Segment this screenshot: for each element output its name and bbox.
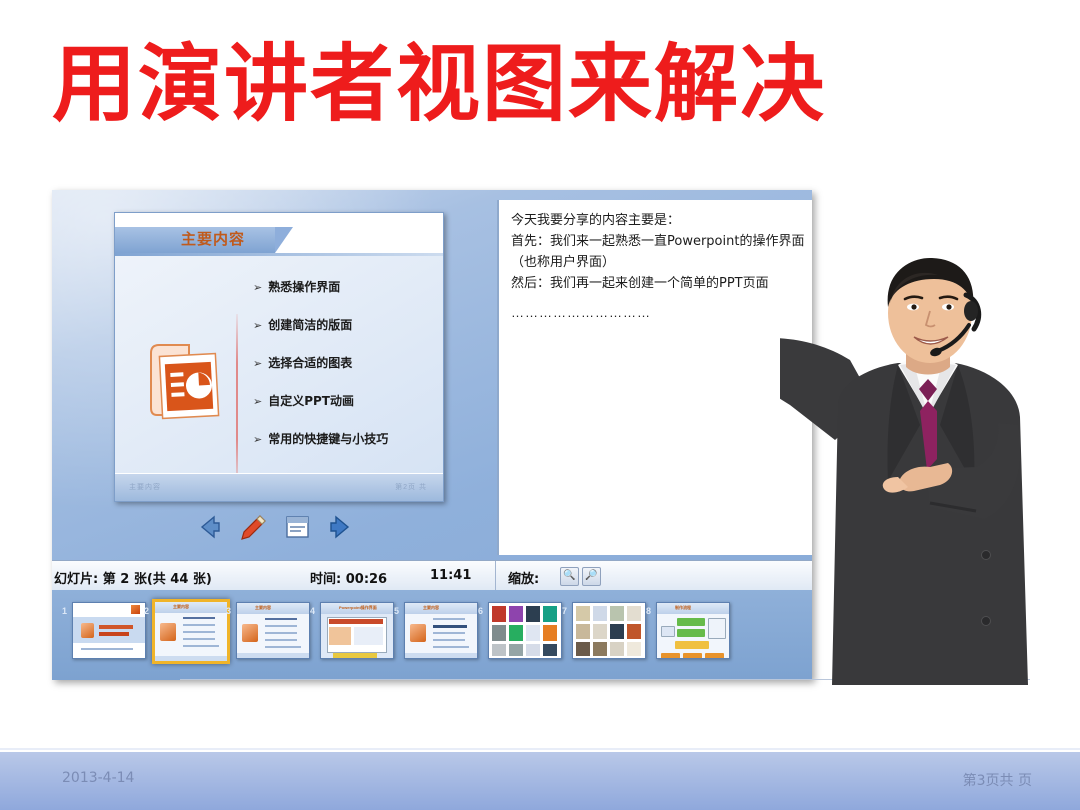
preview-footer: 主要内容 第2页 共 <box>115 473 443 501</box>
thumb3-l5 <box>265 646 301 648</box>
thumb5-l3 <box>433 632 465 634</box>
thumb4-ribbon <box>329 619 383 624</box>
thumb2-ppt-icon <box>160 623 176 641</box>
slide-navigation-controls <box>192 512 372 546</box>
zoom-out-icon[interactable]: 🔎 <box>582 567 601 586</box>
thumb3-l1 <box>265 618 297 620</box>
thumb5-head: 主要内容 <box>405 603 477 614</box>
thumb3-body <box>237 614 309 658</box>
thumb-number-4: 4 <box>310 606 315 616</box>
page-title: 用演讲者视图来解决 <box>52 36 952 132</box>
notes-line-3: （也称用户界面） <box>511 252 812 273</box>
footer-page-number: 第3页共 页 <box>963 770 1032 790</box>
thumb5-l2 <box>433 625 467 628</box>
thumb8-head: 制作流程 <box>657 603 729 614</box>
thumb4-body <box>321 614 393 658</box>
bullet-chevron-icon: ➢ <box>253 357 262 370</box>
thumb2-l3 <box>183 631 215 633</box>
next-slide-arrow-icon[interactable] <box>324 512 358 542</box>
thumb8-flow <box>657 614 729 658</box>
thumbnail-slide-6[interactable] <box>488 602 562 659</box>
notes-dotted-line: ………………………… <box>511 305 651 320</box>
preview-vertical-rule <box>236 314 238 489</box>
slide-preview-pane[interactable]: 主要内容 ➢熟悉操作界面 ➢创建简洁的版面 ➢选择合适的图表 ➢自定义 <box>114 212 444 502</box>
clock-time: 11:41 <box>430 568 471 583</box>
thumb4-highlight <box>333 653 377 658</box>
slide-menu-icon[interactable] <box>280 512 314 542</box>
thumb1-title-line <box>99 625 133 629</box>
notes-line-4: 然后：我们再一起来创建一个简单的PPT页面 <box>511 273 812 294</box>
thumb2-l5 <box>183 645 219 647</box>
preview-bullet-3: ➢选择合适的图表 <box>253 354 352 371</box>
thumb3-l2 <box>265 625 297 627</box>
thumb3-l4 <box>265 639 297 641</box>
presenter-status-bar: 幻灯片: 第 2 张(共 44 张) 时间: 00:26 11:41 缩放: 🔍… <box>52 560 812 592</box>
slide-counter: 幻灯片: 第 2 张(共 44 张) <box>54 568 212 587</box>
thumb5-l5 <box>433 646 469 648</box>
powerpoint-icon <box>145 341 223 427</box>
thumbnail-slide-5[interactable]: 主要内容 <box>404 602 478 659</box>
bullet-chevron-icon: ➢ <box>253 281 262 294</box>
pen-pointer-icon[interactable] <box>236 512 270 542</box>
preview-title: 主要内容 <box>181 228 245 249</box>
thumbnail-slide-2[interactable]: 主要内容 <box>152 599 230 664</box>
slide-thumbnail-strip[interactable]: 1 2 主要内容 3 主要内容 <box>52 590 812 680</box>
thumb2-l2 <box>183 624 215 626</box>
thumb-number-5: 5 <box>394 606 399 616</box>
preview-bullet-2: ➢创建简洁的版面 <box>253 316 352 333</box>
speaker-notes-pane[interactable]: 今天我要分享的内容主要是： 首先：我们来一起熟悉一直Powerpoint的操作界… <box>497 200 812 555</box>
thumb1-sub-line <box>99 632 129 636</box>
speaker-notes-text: 今天我要分享的内容主要是： 首先：我们来一起熟悉一直Powerpoint的操作界… <box>511 210 812 294</box>
thumb2-l1 <box>183 617 215 619</box>
bullet-chevron-icon: ➢ <box>253 395 262 408</box>
thumb4-canvas <box>354 627 383 645</box>
preview-footer-right: 第2页 共 <box>395 482 427 492</box>
thumb4-pane <box>329 627 351 645</box>
thumbnail-slide-8[interactable]: 制作流程 <box>656 602 730 659</box>
presenter-photo <box>780 255 1070 685</box>
thumb-number-7: 7 <box>562 606 567 616</box>
thumb5-ppt-icon <box>410 624 426 642</box>
thumb1-foot-line <box>81 648 133 650</box>
thumb3-ppt-icon <box>242 624 258 642</box>
footer-hairline <box>0 748 1080 750</box>
zoom-label: 缩放: <box>508 568 539 587</box>
thumb5-l4 <box>433 639 465 641</box>
thumb-number-2: 2 <box>144 606 149 616</box>
thumb7-gallery <box>573 603 645 658</box>
thumb5-l1 <box>433 618 465 620</box>
zoom-in-icon[interactable]: 🔍 <box>560 567 579 586</box>
thumb-number-1: 1 <box>62 606 67 616</box>
notes-line-1: 今天我要分享的内容主要是： <box>511 210 812 231</box>
bullet-chevron-icon: ➢ <box>253 433 262 446</box>
thumbnail-slide-1[interactable] <box>72 602 146 659</box>
elapsed-time: 时间: 00:26 <box>310 568 387 587</box>
status-bar-divider <box>495 561 496 591</box>
thumb4-head: Powerpoint操作界面 <box>321 603 393 614</box>
thumb3-head: 主要内容 <box>237 603 309 614</box>
presenter-view-screenshot: 主要内容 ➢熟悉操作界面 ➢创建简洁的版面 ➢选择合适的图表 ➢自定义 <box>52 190 812 680</box>
previous-slide-arrow-icon[interactable] <box>192 512 226 542</box>
notes-line-2: 首先：我们来一起熟悉一直Powerpoint的操作界面 <box>511 231 812 252</box>
thumb-number-3: 3 <box>226 606 231 616</box>
preview-body: ➢熟悉操作界面 ➢创建简洁的版面 ➢选择合适的图表 ➢自定义PPT动画 ➢常用的… <box>115 256 443 474</box>
thumb2-head: 主要内容 <box>155 602 227 613</box>
thumb6-gallery <box>489 603 561 658</box>
bullet-chevron-icon: ➢ <box>253 319 262 332</box>
thumb3-l3 <box>265 632 297 634</box>
thumb-number-6: 6 <box>478 606 483 616</box>
thumbnail-slide-3[interactable]: 主要内容 <box>236 602 310 659</box>
footer-date: 2013-4-14 <box>62 770 134 786</box>
thumb3-foot <box>237 653 309 658</box>
thumb5-foot <box>405 653 477 658</box>
thumb1-logo <box>131 605 140 614</box>
thumb2-l4 <box>183 638 215 640</box>
preview-footer-left: 主要内容 <box>129 482 161 492</box>
thumb5-body <box>405 614 477 658</box>
thumbnail-slide-4[interactable]: Powerpoint操作界面 <box>320 602 394 659</box>
preview-bullet-1: ➢熟悉操作界面 <box>253 278 340 295</box>
thumb2-foot <box>155 656 227 661</box>
preview-bullet-5: ➢常用的快捷键与小技巧 <box>253 430 388 447</box>
thumb-number-8: 8 <box>646 606 651 616</box>
thumb1-ppt-icon <box>81 623 94 638</box>
thumbnail-slide-7[interactable] <box>572 602 646 659</box>
thumb2-body <box>155 613 227 661</box>
footer-band: 2013-4-14 第3页共 页 <box>0 752 1080 810</box>
preview-bullet-4: ➢自定义PPT动画 <box>253 392 354 409</box>
